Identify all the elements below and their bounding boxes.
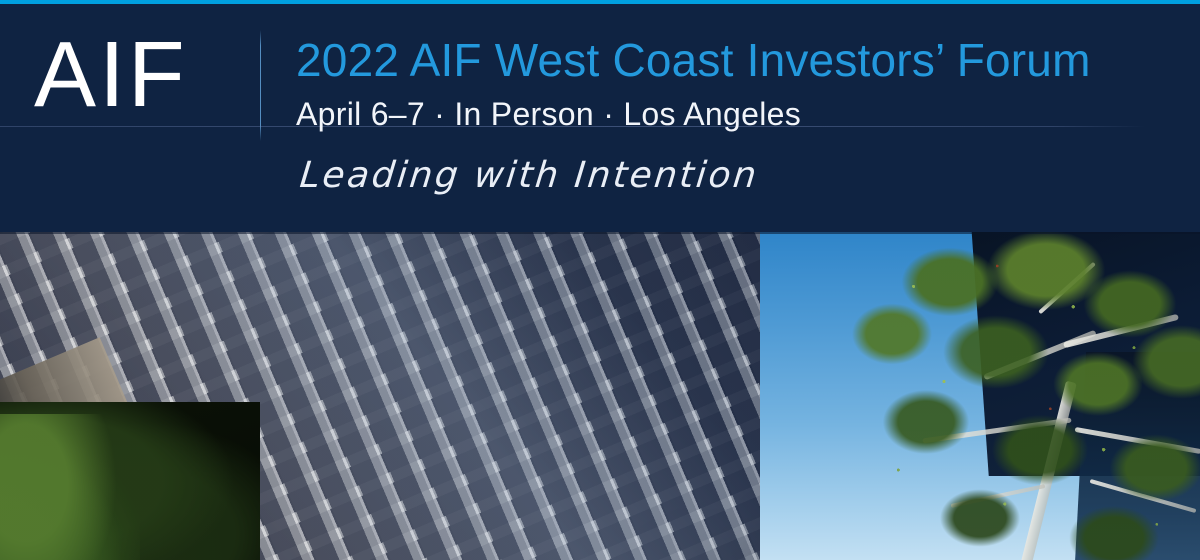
event-tagline: Leading with Intention	[298, 155, 761, 197]
aif-logo: AIF	[34, 22, 224, 126]
event-banner: AIF 2022 AIF West Coast Investors’ Forum…	[0, 0, 1200, 560]
logo-divider	[260, 30, 261, 141]
tree-leaf-detail	[830, 232, 1200, 560]
banner-header: AIF 2022 AIF West Coast Investors’ Forum…	[0, 0, 1200, 232]
hero-photo	[0, 232, 1200, 560]
sycamore-tree	[830, 232, 1200, 560]
header-photo-seam	[0, 232, 1200, 234]
top-accent-bar	[0, 0, 1200, 4]
shadowed-foliage	[0, 402, 260, 560]
shadowed-foliage-highlights	[0, 414, 140, 560]
event-details: April 6–7 · In Person · Los Angeles	[296, 96, 801, 132]
event-title: 2022 AIF West Coast Investors’ Forum	[296, 34, 1091, 86]
